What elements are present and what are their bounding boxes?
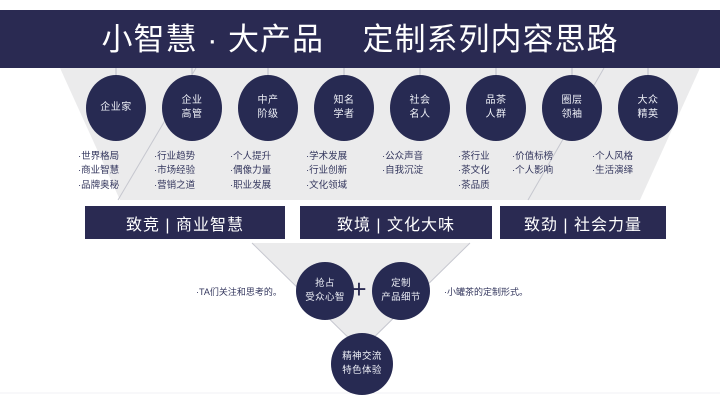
bullet-item: 个人风格 <box>592 150 672 164</box>
bullet-group-4: 学术发展 行业创新 文化领域 <box>306 150 386 193</box>
persona-circle-5[interactable]: 社会 名人 <box>390 75 450 141</box>
persona-label: 品茶 <box>486 94 507 109</box>
persona-label: 圈层 <box>562 94 583 109</box>
page-title: 小智慧 · 大产品 定制系列内容思路 <box>102 24 619 55</box>
persona-circle-2[interactable]: 企业 高管 <box>162 75 222 141</box>
bullet-item: 自我沉淀 <box>382 164 462 178</box>
funnel-left-note: ·TA们关注和思考的。 <box>196 285 282 298</box>
banner-label: 致境 | 文化大味 <box>337 211 455 235</box>
bullet-item: 商业智慧 <box>78 164 158 178</box>
persona-label: 阶级 <box>258 108 279 123</box>
bullet-item: 世界格局 <box>78 150 158 164</box>
persona-label: 知名 <box>334 94 355 109</box>
persona-label: 社会 <box>410 94 431 109</box>
bullet-group-1: 世界格局 商业智慧 品牌奥秘 <box>78 150 158 193</box>
slide-canvas: 小智慧 · 大产品 定制系列内容思路 企业家 企业 高管 中产 阶级 知名 学者… <box>0 0 720 405</box>
persona-label: 人群 <box>486 108 507 123</box>
bullet-item: 个人提升 <box>230 150 310 164</box>
bullet-group-8: 个人风格 生活演绎 <box>592 150 672 179</box>
banner-culture[interactable]: 致境 | 文化大味 <box>300 206 492 239</box>
bullet-group-2: 行业趋势 市场经验 营销之道 <box>154 150 234 193</box>
bullet-item: 公众声音 <box>382 150 462 164</box>
persona-label: 领袖 <box>562 108 583 123</box>
persona-circle-row: 企业家 企业 高管 中产 阶级 知名 学者 社会 名人 品茶 人群 圈层 领袖 … <box>0 75 720 143</box>
persona-label: 企业家 <box>100 101 132 116</box>
persona-circle-4[interactable]: 知名 学者 <box>314 75 374 141</box>
persona-label: 中产 <box>258 94 279 109</box>
persona-label: 高管 <box>182 108 203 123</box>
bullet-group-5: 公众声音 自我沉淀 <box>382 150 462 179</box>
banner-social[interactable]: 致劲 | 社会力量 <box>500 206 666 239</box>
bullet-item: 市场经验 <box>154 164 234 178</box>
bullet-item: 价值标榜 <box>512 150 592 164</box>
funnel-circle-label: 受众心智 <box>305 291 345 305</box>
title-bar: 小智慧 · 大产品 定制系列内容思路 <box>0 10 720 68</box>
funnel-circle-audience[interactable]: 抢占 受众心智 <box>296 262 354 320</box>
bullet-item: 品牌奥秘 <box>78 179 158 193</box>
bullet-item: 偶像力量 <box>230 164 310 178</box>
bullet-group-3: 个人提升 偶像力量 职业发展 <box>230 150 310 193</box>
funnel-circle-label: 定制 <box>391 277 411 291</box>
funnel-circle-label: 特色体验 <box>342 364 382 378</box>
funnel-circle-label: 精神交流 <box>342 350 382 364</box>
persona-label: 精英 <box>638 108 659 123</box>
bullet-item: 个人影响 <box>512 164 592 178</box>
bullet-item: 行业趋势 <box>154 150 234 164</box>
bullet-group-7: 价值标榜 个人影响 <box>512 150 592 179</box>
persona-circle-1[interactable]: 企业家 <box>86 75 146 141</box>
funnel-right-note: ·小罐茶的定制形式。 <box>444 285 528 298</box>
bullet-item: 职业发展 <box>230 179 310 193</box>
persona-label: 企业 <box>182 94 203 109</box>
funnel-circle-product[interactable]: 定制 产品细节 <box>372 262 430 320</box>
bullet-item: 文化领域 <box>306 179 386 193</box>
persona-circle-6[interactable]: 品茶 人群 <box>466 75 526 141</box>
persona-label: 学者 <box>334 108 355 123</box>
persona-circle-7[interactable]: 圈层 领袖 <box>542 75 602 141</box>
banner-label: 致劲 | 社会力量 <box>524 211 642 235</box>
persona-circle-3[interactable]: 中产 阶级 <box>238 75 298 141</box>
bullet-item: 茶品质 <box>458 179 538 193</box>
persona-circle-8[interactable]: 大众 精英 <box>618 75 678 141</box>
bullet-item: 学术发展 <box>306 150 386 164</box>
funnel-circle-label: 抢占 <box>315 277 335 291</box>
bullet-item: 营销之道 <box>154 179 234 193</box>
banner-business[interactable]: 致竞 | 商业智慧 <box>85 206 285 239</box>
plus-icon: + <box>348 278 370 300</box>
persona-label: 名人 <box>410 108 431 123</box>
persona-label: 大众 <box>638 94 659 109</box>
banner-label: 致竞 | 商业智慧 <box>126 211 244 235</box>
funnel-circle-label: 产品细节 <box>381 291 421 305</box>
bullet-item: 行业创新 <box>306 164 386 178</box>
funnel-circle-outcome[interactable]: 精神交流 特色体验 <box>331 333 393 395</box>
bullet-item: 生活演绎 <box>592 164 672 178</box>
